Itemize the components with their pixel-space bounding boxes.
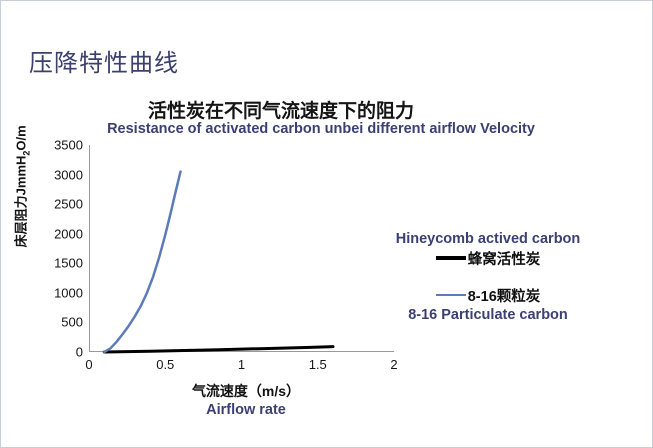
slide-canvas: 压降特性曲线 活性炭在不同气流速度下的阻力 Resistance of acti… [0,0,653,448]
y-tick-label: 2000 [37,226,83,241]
chart-title-chinese: 活性炭在不同气流速度下的阻力 [1,96,561,123]
slide-title: 压降特性曲线 [29,43,179,78]
series-line [104,172,180,352]
y-tick-label: 1500 [37,256,83,271]
chart-legend: Hineycomb actived carbon 蜂窝活性炭 8-16颗粒炭 8… [373,231,603,323]
y-tick-label: 500 [37,315,83,330]
x-tick-label: 0.5 [156,357,174,372]
legend-line-swatch-blue-icon [436,294,466,296]
legend-item-particulate-label: 8-16颗粒炭 [468,285,541,306]
y-axis-title-sub: 2 [21,151,31,156]
y-axis-tick-labels: 0500100015002000250030003500 [37,145,83,352]
legend-header-english: Hineycomb actived carbon [373,231,603,248]
x-axis-tick-labels: 00.511.52 [89,357,394,377]
x-axis-title-english: Airflow rate [121,402,371,418]
x-tick-label: 1.5 [309,357,327,372]
y-axis-title: 床层阻力JmmH2O/m [11,106,32,266]
y-tick-label: 0 [37,345,83,360]
y-tick-label: 3500 [37,138,83,153]
chart-title-english: Resistance of activated carbon unbei dif… [1,121,641,137]
y-tick-label: 2500 [37,197,83,212]
x-tick-label: 2 [390,357,397,372]
legend-line-swatch-black-icon [436,256,466,260]
y-axis-title-main: 床层阻力JmmH [14,156,29,248]
series-plot [89,145,394,352]
legend-item-honeycomb-label: 蜂窝活性炭 [468,248,541,269]
y-tick-label: 3000 [37,167,83,182]
x-axis-title-chinese: 气流速度（m/s） [121,381,371,401]
x-tick-label: 1 [238,357,245,372]
legend-item-particulate[interactable]: 8-16颗粒炭 [373,285,603,306]
legend-footer-english: 8-16 Particulate carbon [373,307,603,324]
series-line [104,347,333,352]
legend-item-honeycomb[interactable]: 蜂窝活性炭 [373,248,603,269]
x-tick-label: 0 [85,357,92,372]
plot-area [89,145,394,352]
y-tick-label: 1000 [37,285,83,300]
y-axis-title-tail: O/m [14,125,29,150]
